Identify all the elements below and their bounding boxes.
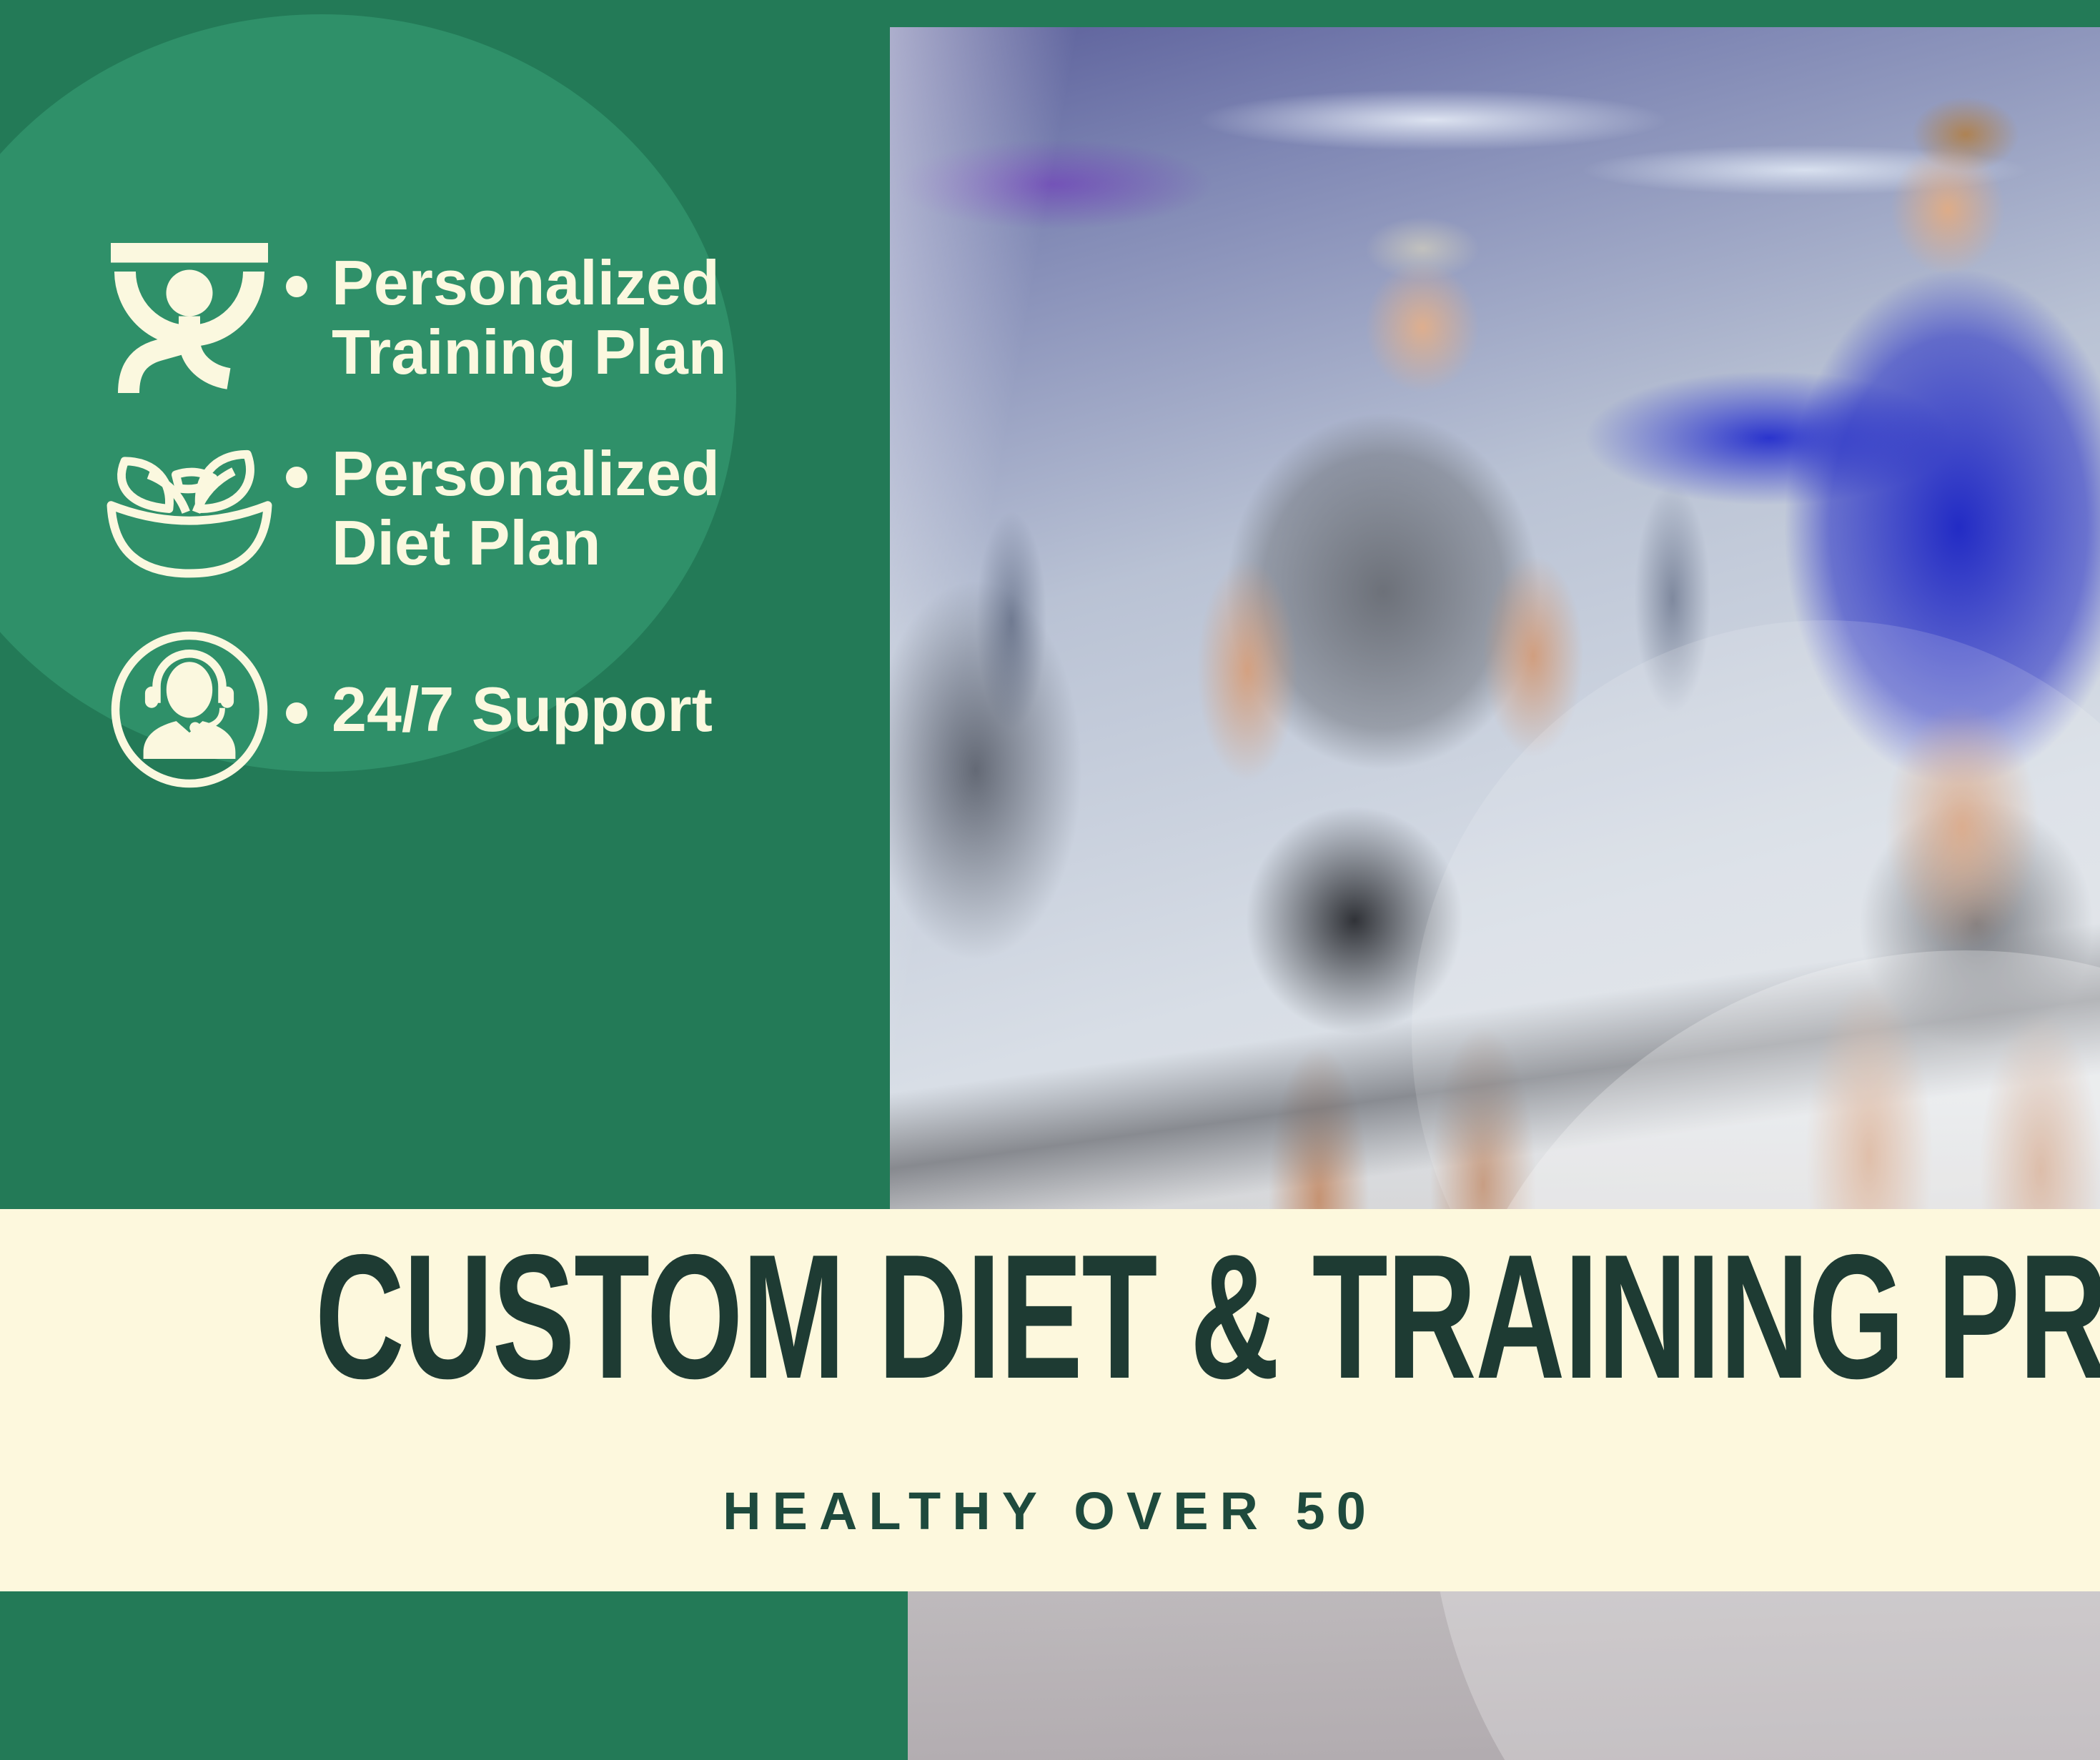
feature-text-block: Personalized Training Plan	[286, 249, 818, 387]
list-item-label: Personalized Diet Plan	[332, 439, 818, 578]
salad-bowl-icon	[93, 437, 286, 580]
bullet-point	[286, 467, 307, 488]
bullet-point	[286, 276, 307, 297]
list-item: Personalized Training Plan	[93, 236, 851, 400]
list-item: Personalized Diet Plan	[93, 437, 851, 580]
feature-text-block: 24/7 Support	[286, 675, 713, 745]
bottom-green-strip	[0, 1591, 908, 1760]
feature-text-block: Personalized Diet Plan	[286, 439, 818, 578]
ad-canvas: CUSTOM DIET & TRAINING PROGRAM HEALTHY O…	[0, 0, 2100, 1760]
list-item-label: 24/7 Support	[332, 675, 713, 745]
list-item: 24/7 Support	[93, 627, 851, 792]
page-title: CUSTOM DIET & TRAINING PROGRAM	[315, 1228, 1786, 1405]
person-lifting-barbell-icon	[93, 236, 286, 400]
support-headset-agent-icon	[93, 627, 286, 792]
bullet-point	[286, 702, 307, 724]
feature-list: Personalized Training Plan Personalized …	[93, 236, 851, 829]
list-item-label: Personalized Training Plan	[332, 249, 818, 387]
page-subtitle: HEALTHY OVER 50	[0, 1481, 2100, 1541]
